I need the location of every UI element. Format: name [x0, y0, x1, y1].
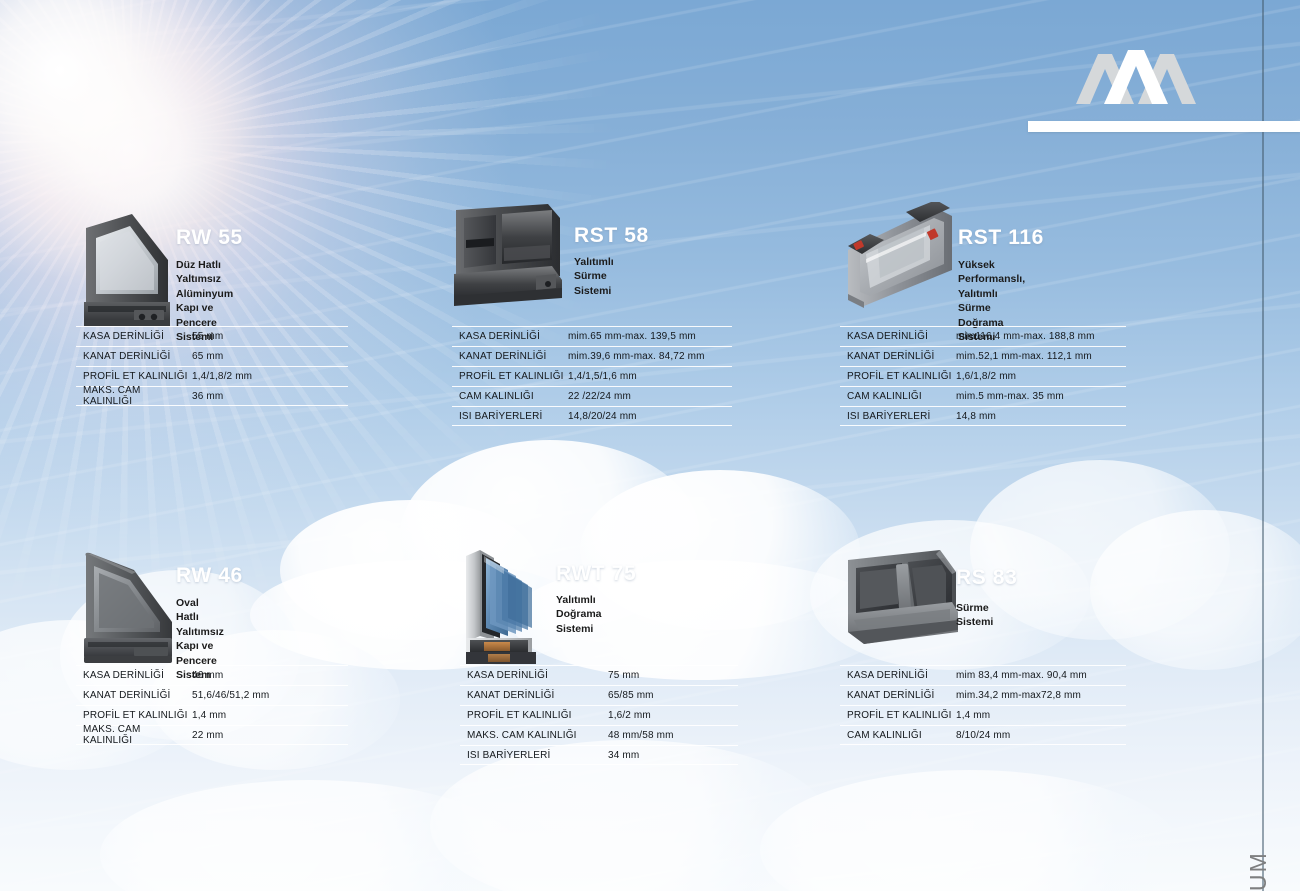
spec-label: MAKS. CAM KALINLIĞI: [76, 385, 192, 407]
spec-value: 14,8/20/24 mm: [568, 411, 637, 422]
product-title-rw-55: RW 55: [176, 226, 243, 250]
spec-row: MAKS. CAM KALINLIĞI48 mm/58 mm: [460, 725, 738, 745]
spec-value: 51,6/46/51,2 mm: [192, 690, 269, 701]
spec-value: 1,4 mm: [956, 710, 990, 721]
spec-label: KASA DERİNLİĞİ: [76, 670, 192, 681]
product-image-rst-116: [840, 202, 958, 314]
spec-label: PROFİL ET KALINLIĞI: [840, 710, 956, 721]
spec-row: KASA DERİNLİĞİ55 mm: [76, 326, 348, 346]
spec-row: ISI BARİYERLERİ14,8/20/24 mm: [452, 406, 732, 426]
spec-value: 1,6/2 mm: [608, 710, 651, 721]
spec-label: KANAT DERİNLİĞİ: [840, 351, 956, 362]
spec-label: CAM KALINLIĞI: [840, 391, 956, 402]
spec-label: KANAT DERİNLİĞİ: [460, 690, 608, 701]
spec-label: ISI BARİYERLERİ: [452, 411, 568, 422]
spec-label: KANAT DERİNLİĞİ: [452, 351, 568, 362]
spec-row: KANAT DERİNLİĞİmim.52,1 mm-max. 112,1 mm: [840, 346, 1126, 366]
header-white-bar: [1028, 121, 1300, 132]
spec-row: KASA DERİNLİĞİmim 83,4 mm-max. 90,4 mm: [840, 665, 1126, 685]
product-image-rw-46: [76, 548, 182, 666]
side-brand-text: MCH ALÜMİNYUM: [1245, 851, 1272, 891]
product-image-rs-83: [840, 546, 962, 658]
spec-row: PROFİL ET KALINLIĞI1,4 mm: [840, 705, 1126, 725]
spec-row: PROFİL ET KALINLIĞI1,6/2 mm: [460, 705, 738, 725]
product-title-rw-46: RW 46: [176, 564, 243, 588]
vertical-divider: [1262, 0, 1264, 891]
spec-label: KASA DERİNLİĞİ: [460, 670, 608, 681]
spec-value: 22 /22/24 mm: [568, 391, 631, 402]
spec-label: KANAT DERİNLİĞİ: [840, 690, 956, 701]
spec-value: 48 mm/58 mm: [608, 730, 674, 741]
spec-value: 1,4/1,5/1,6 mm: [568, 371, 637, 382]
spec-value: 14,8 mm: [956, 411, 996, 422]
spec-value: 1,4 mm: [192, 710, 226, 721]
spec-value: 65/85 mm: [608, 690, 654, 701]
spec-value: 65 mm: [192, 351, 223, 362]
spec-value: mim.34,2 mm-max72,8 mm: [956, 690, 1081, 701]
spec-row: KANAT DERİNLİĞİmim.39,6 mm-max. 84,72 mm: [452, 346, 732, 366]
product-image-rst-58: [452, 202, 564, 308]
product-image-rw-55: [80, 210, 178, 330]
product-title-rst-116: RST 116: [958, 226, 1044, 250]
spec-table-rw-55: KASA DERİNLİĞİ55 mm KANAT DERİNLİĞİ65 mm…: [76, 326, 348, 406]
spec-label: MAKS. CAM KALINLIĞI: [76, 724, 192, 746]
spec-label: KASA DERİNLİĞİ: [76, 331, 192, 342]
spec-row: KASA DERİNLİĞİmim.65 mm-max. 139,5 mm: [452, 326, 732, 346]
spec-value: mim.52,1 mm-max. 112,1 mm: [956, 351, 1092, 362]
spec-table-rst-58: KASA DERİNLİĞİmim.65 mm-max. 139,5 mm KA…: [452, 326, 732, 426]
spec-value: 46 mm: [192, 670, 223, 681]
product-subtitle-rwt-75: Yalıtımlı Doğrama Sistemi: [556, 593, 602, 636]
spec-label: PROFİL ET KALINLIĞI: [840, 371, 956, 382]
spec-label: KASA DERİNLİĞİ: [840, 331, 956, 342]
spec-label: CAM KALINLIĞI: [840, 730, 956, 741]
mch-double-chevron-icon: [1068, 48, 1204, 110]
spec-label: MAKS. CAM KALINLIĞI: [460, 730, 608, 741]
spec-label: ISI BARİYERLERİ: [840, 411, 956, 422]
product-title-rs-83: RS 83: [956, 566, 1017, 590]
spec-row: KASA DERİNLİĞİ46 mm: [76, 665, 348, 685]
spec-label: KANAT DERİNLİĞİ: [76, 351, 192, 362]
spec-row: KANAT DERİNLİĞİ65/85 mm: [460, 685, 738, 705]
spec-label: PROFİL ET KALINLIĞI: [460, 710, 608, 721]
spec-row: CAM KALINLIĞI8/10/24 mm: [840, 725, 1126, 745]
spec-value: mim116,4 mm-max. 188,8 mm: [956, 331, 1095, 342]
spec-table-rwt-75: KASA DERİNLİĞİ75 mm KANAT DERİNLİĞİ65/85…: [460, 665, 738, 765]
spec-row: KASA DERİNLİĞİmim116,4 mm-max. 188,8 mm: [840, 326, 1126, 346]
spec-row: CAM KALINLIĞI22 /22/24 mm: [452, 386, 732, 406]
product-subtitle-rst-58: Yalıtımlı Sürme Sistemi: [574, 255, 614, 298]
spec-label: PROFİL ET KALINLIĞI: [76, 371, 192, 382]
spec-table-rst-116: KASA DERİNLİĞİmim116,4 mm-max. 188,8 mm …: [840, 326, 1126, 426]
product-title-rst-58: RST 58: [574, 224, 649, 248]
spec-row: MAKS. CAM KALINLIĞI22 mm: [76, 725, 348, 745]
spec-value: mim.5 mm-max. 35 mm: [956, 391, 1064, 402]
catalog-page: MCH ALÜMİNYUM: [0, 0, 1300, 891]
spec-label: KASA DERİNLİĞİ: [452, 331, 568, 342]
spec-label: PROFİL ET KALINLIĞI: [452, 371, 568, 382]
spec-value: 22 mm: [192, 730, 223, 741]
spec-row: MAKS. CAM KALINLIĞI36 mm: [76, 386, 348, 406]
spec-table-rs-83: KASA DERİNLİĞİmim 83,4 mm-max. 90,4 mm K…: [840, 665, 1126, 745]
spec-value: mim 83,4 mm-max. 90,4 mm: [956, 670, 1087, 681]
spec-value: 55 mm: [192, 331, 223, 342]
spec-label: KASA DERİNLİĞİ: [840, 670, 956, 681]
spec-label: ISI BARİYERLERİ: [460, 750, 608, 761]
spec-row: PROFİL ET KALINLIĞI1,4 mm: [76, 705, 348, 725]
spec-value: 8/10/24 mm: [956, 730, 1010, 741]
spec-row: KASA DERİNLİĞİ75 mm: [460, 665, 738, 685]
spec-value: 36 mm: [192, 391, 223, 402]
product-subtitle-rs-83: Sürme Sistemi: [956, 601, 993, 630]
spec-value: mim.65 mm-max. 139,5 mm: [568, 331, 696, 342]
spec-value: 75 mm: [608, 670, 639, 681]
spec-value: 1,4/1,8/2 mm: [192, 371, 252, 382]
spec-row: ISI BARİYERLERİ34 mm: [460, 745, 738, 765]
spec-row: CAM KALINLIĞImim.5 mm-max. 35 mm: [840, 386, 1126, 406]
spec-label: KANAT DERİNLİĞİ: [76, 690, 192, 701]
spec-row: KANAT DERİNLİĞİ65 mm: [76, 346, 348, 366]
spec-label: PROFİL ET KALINLIĞI: [76, 710, 192, 721]
spec-table-rw-46: KASA DERİNLİĞİ46 mm KANAT DERİNLİĞİ51,6/…: [76, 665, 348, 745]
mch-logo: [1068, 48, 1204, 110]
spec-row: KANAT DERİNLİĞİ51,6/46/51,2 mm: [76, 685, 348, 705]
spec-label: CAM KALINLIĞI: [452, 391, 568, 402]
spec-row: PROFİL ET KALINLIĞI1,6/1,8/2 mm: [840, 366, 1126, 386]
spec-value: 34 mm: [608, 750, 639, 761]
product-title-rwt-75: RWT 75: [556, 562, 636, 586]
spec-value: mim.39,6 mm-max. 84,72 mm: [568, 351, 705, 362]
product-image-rwt-75: [460, 544, 560, 666]
spec-row: KANAT DERİNLİĞİmim.34,2 mm-max72,8 mm: [840, 685, 1126, 705]
spec-row: PROFİL ET KALINLIĞI1,4/1,8/2 mm: [76, 366, 348, 386]
spec-row: ISI BARİYERLERİ14,8 mm: [840, 406, 1126, 426]
spec-value: 1,6/1,8/2 mm: [956, 371, 1016, 382]
spec-row: PROFİL ET KALINLIĞI1,4/1,5/1,6 mm: [452, 366, 732, 386]
